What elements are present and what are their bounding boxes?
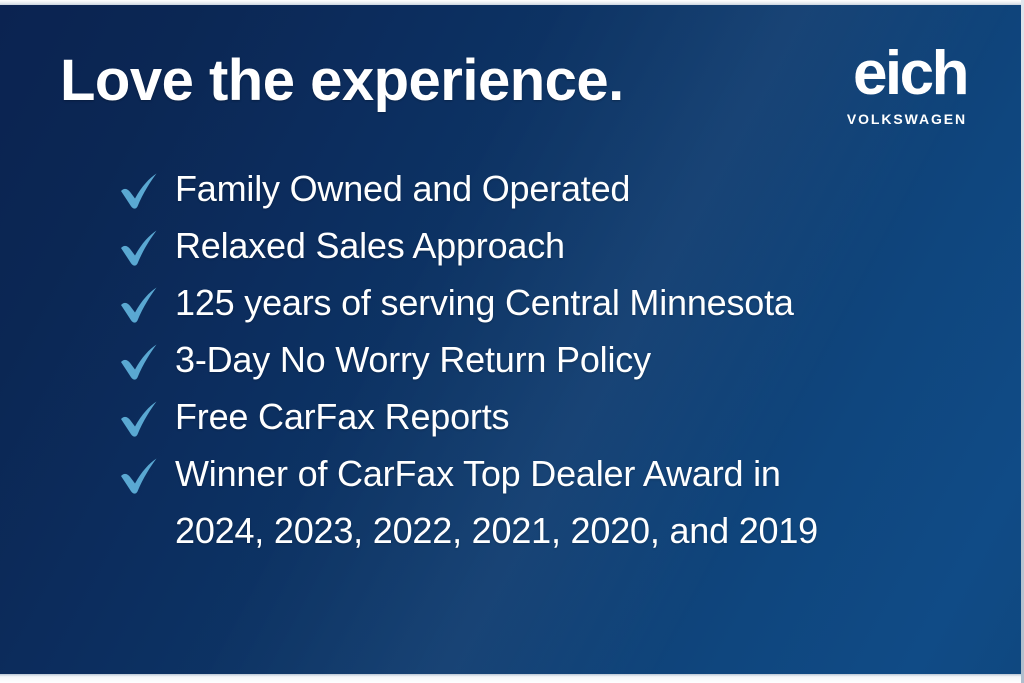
list-item: Relaxed Sales Approach [118, 222, 978, 279]
list-item: Free CarFax Reports [118, 393, 978, 450]
promo-slide: Love the experience. eich VOLKSWAGEN Fam… [0, 0, 1024, 683]
checkmark-icon [118, 336, 175, 384]
feature-list: Family Owned and OperatedRelaxed Sales A… [118, 165, 978, 564]
list-item-label: 2024, 2023, 2022, 2021, 2020, and 2019 [175, 507, 978, 555]
page-title: Love the experience. [60, 51, 624, 112]
blue-background-panel: Love the experience. eich VOLKSWAGEN Fam… [0, 5, 1021, 674]
checkmark-icon [118, 279, 175, 327]
logo-wordmark-text: eich [809, 45, 969, 104]
list-item-label: 3-Day No Worry Return Policy [175, 336, 978, 384]
list-item: 3-Day No Worry Return Policy [118, 336, 978, 393]
logo-subtitle-text: VOLKSWAGEN [809, 111, 969, 127]
list-item: 2024, 2023, 2022, 2021, 2020, and 2019 [118, 507, 978, 564]
list-item: Winner of CarFax Top Dealer Award in [118, 450, 978, 507]
checkmark-icon [118, 450, 175, 498]
list-item: Family Owned and Operated [118, 165, 978, 222]
list-item-label: Family Owned and Operated [175, 165, 978, 213]
checkmark-icon [118, 165, 175, 213]
brand-logo: eich VOLKSWAGEN [809, 45, 969, 127]
bottom-edge-strip [0, 674, 1024, 683]
list-item-label: Winner of CarFax Top Dealer Award in [175, 450, 978, 498]
list-item-label: Relaxed Sales Approach [175, 222, 978, 270]
list-item: 125 years of serving Central Minnesota [118, 279, 978, 336]
list-item-label: Free CarFax Reports [175, 393, 978, 441]
checkmark-icon [118, 222, 175, 270]
list-item-label: 125 years of serving Central Minnesota [175, 279, 978, 327]
checkmark-icon [118, 393, 175, 441]
